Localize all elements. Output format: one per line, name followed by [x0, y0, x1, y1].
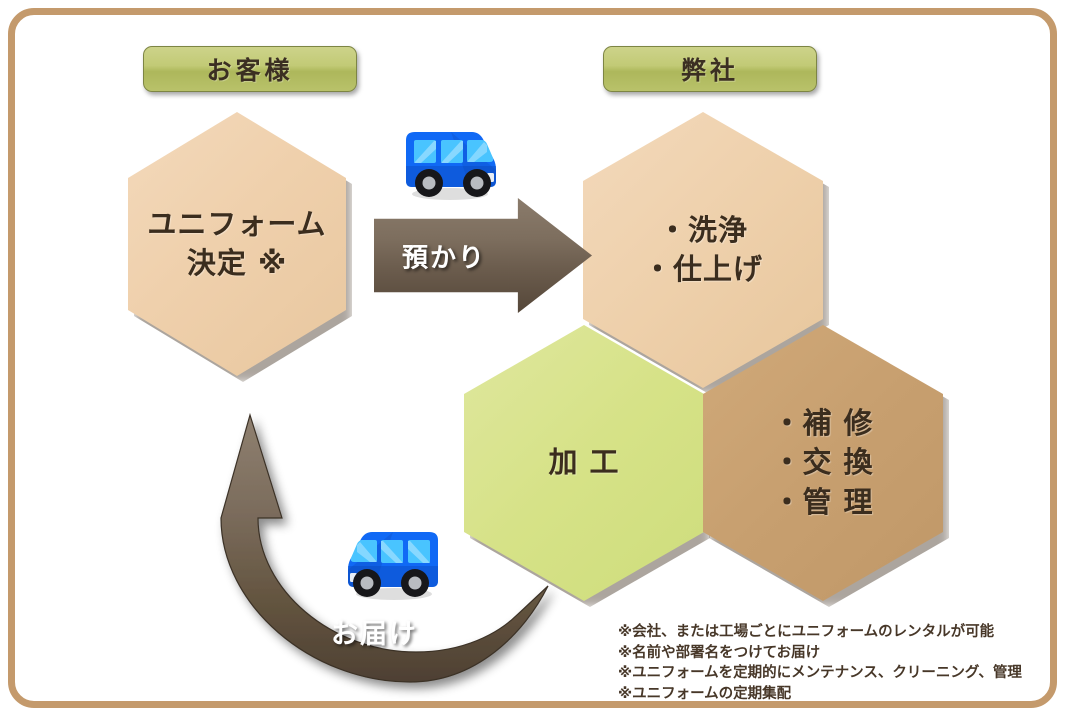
hex-repair-label: ・補 修 ・交 換 ・管 理 [772, 404, 873, 521]
hex-uniform-label: ユニフォーム 決定 ※ [147, 205, 326, 283]
label-customer: お客様 [143, 46, 357, 92]
label-customer-text: お客様 [206, 51, 293, 87]
delivery-van-icon-inbound [344, 518, 448, 604]
note-line: ※名前や部署名をつけてお届け [618, 643, 1048, 664]
arrow-entrust: 預かり [374, 198, 592, 313]
note-line: ※会社、または工場ごとにユニフォームのレンタルが可能 [618, 622, 1048, 643]
note-line: ※ユニフォームの定期集配 [618, 684, 1048, 705]
label-company-text: 弊社 [681, 51, 739, 87]
arrow-entrust-label: 預かり [402, 237, 486, 274]
note-line: ※ユニフォームを定期的にメンテナンス、クリーニング、管理 [618, 663, 1048, 684]
label-company: 弊社 [603, 46, 817, 92]
hex-wash-label: ・洗浄 ・仕上げ [643, 211, 763, 289]
arrow-delivery-label: お届け [331, 612, 418, 651]
notes-block: ※会社、または工場ごとにユニフォームのレンタルが可能 ※名前や部署名をつけてお届… [618, 622, 1048, 704]
delivery-van-icon-outbound [396, 118, 500, 204]
diagram-canvas: お客様 弊社 ユニフォーム 決定 ※ ・洗浄 ・仕上げ 加 工 ・補 修 ・交 … [0, 0, 1073, 724]
